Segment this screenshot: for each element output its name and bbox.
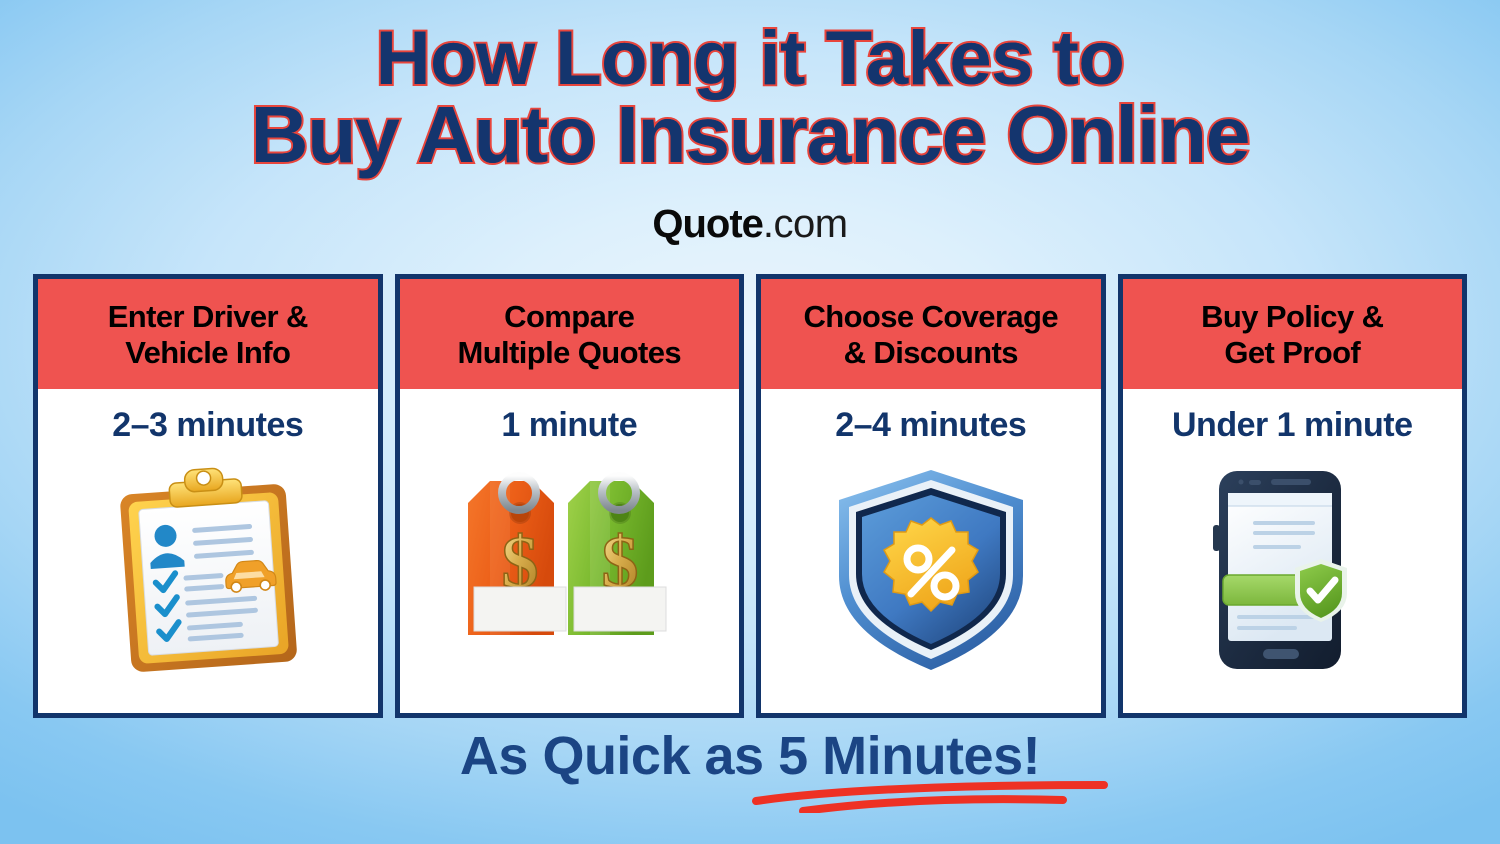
step-card-1: Enter Driver & Vehicle Info 2–3 minutes — [33, 274, 383, 718]
step-card-2-heading: Compare Multiple Quotes — [400, 279, 740, 389]
step-card-3: Choose Coverage & Discounts 2–4 minutes — [756, 274, 1106, 718]
step-card-4-heading-line2: Get Proof — [1224, 335, 1360, 370]
step-card-2: Compare Multiple Quotes 1 minute — [395, 274, 745, 718]
step-card-4-duration: Under 1 minute — [1123, 389, 1463, 442]
step-card-3-heading-line1: Choose Coverage — [803, 299, 1058, 334]
step-card-2-heading-line1: Compare — [504, 299, 634, 334]
step-card-3-heading-line2: & Discounts — [844, 335, 1018, 370]
step-card-3-duration: 2–4 minutes — [761, 389, 1101, 442]
phone-verified-icon — [1123, 442, 1463, 713]
footer-text: As Quick as 5 Minutes! — [460, 729, 1040, 783]
step-card-1-duration: 2–3 minutes — [38, 389, 378, 442]
steps-row: Enter Driver & Vehicle Info 2–3 minutes — [33, 274, 1467, 718]
footer-callout: As Quick as 5 Minutes! — [0, 729, 1500, 783]
infographic-canvas: How Long it Takes to Buy Auto Insurance … — [0, 0, 1500, 844]
step-card-4: Buy Policy & Get Proof Under 1 minute — [1118, 274, 1468, 718]
step-card-1-heading: Enter Driver & Vehicle Info — [38, 279, 378, 389]
step-card-3-heading: Choose Coverage & Discounts — [761, 279, 1101, 389]
step-card-2-heading-line2: Multiple Quotes — [457, 335, 681, 370]
step-card-4-heading: Buy Policy & Get Proof — [1123, 279, 1463, 389]
title-line-1: How Long it Takes to — [0, 22, 1500, 96]
brand-logo: Quote.com — [0, 204, 1500, 244]
step-card-4-heading-line1: Buy Policy & — [1201, 299, 1383, 334]
price-tags-icon: $ $ — [400, 442, 740, 713]
shield-percent-icon — [761, 442, 1101, 713]
logo-tld-text: .com — [763, 202, 848, 246]
title-line-2: Buy Auto Insurance Online — [0, 96, 1500, 174]
page-title: How Long it Takes to Buy Auto Insurance … — [0, 22, 1500, 175]
clipboard-form-icon — [38, 442, 378, 713]
step-card-2-duration: 1 minute — [400, 389, 740, 442]
logo-brand-text: Quote — [652, 202, 763, 246]
step-card-1-heading-line1: Enter Driver & — [108, 299, 308, 334]
step-card-1-heading-line2: Vehicle Info — [125, 335, 290, 370]
